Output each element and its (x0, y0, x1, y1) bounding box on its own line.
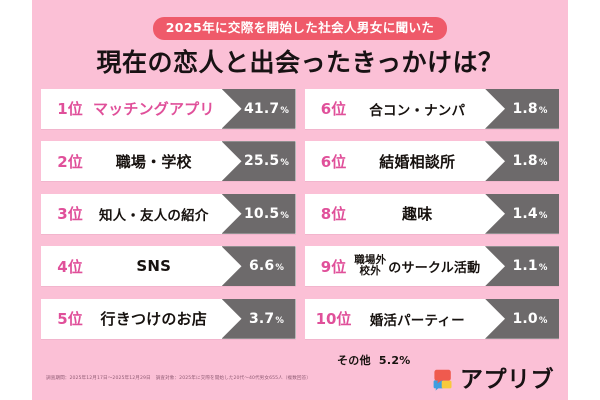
rank-label: 6位 (305, 141, 354, 181)
value-badge: 41.7% (222, 89, 296, 129)
value-number: 3.7 (249, 311, 274, 327)
value-badge: 6.6% (222, 246, 296, 286)
category-label: 合コン・ナンパ (354, 89, 486, 129)
value-number: 6.6 (249, 258, 274, 274)
percent-sign: % (539, 211, 548, 221)
ranking-row[interactable]: 2位 職場・学校 25.5% (41, 141, 296, 181)
category-label-stack-bottom: 校外 (354, 266, 386, 277)
category-label: 結婚相談所 (354, 141, 486, 181)
percent-sign: % (275, 263, 284, 273)
rank-label: 6位 (305, 89, 354, 129)
percent-sign: % (280, 211, 289, 221)
ranking-column-right: 6位 合コン・ナンパ 1.8% 6位 結婚相談所 1.8% 8位 趣味 (305, 89, 560, 339)
value-badge: 25.5% (222, 141, 296, 181)
survey-note: 調査期間：2025年12月17日〜2025年12月29日調査対象：2025年に交… (46, 375, 311, 381)
rank-label: 10位 (305, 299, 354, 339)
subtitle-badge: 2025年に交際を開始した社会人男女に聞いた (153, 17, 448, 40)
pink-panel: 2025年に交際を開始した社会人男女に聞いた 現在の恋人と出会ったきっかけは？ … (32, 0, 568, 400)
value-badge: 10.5% (222, 194, 296, 234)
percent-sign: % (280, 158, 289, 168)
category-label: 職場外 校外 のサークル活動 (354, 246, 486, 286)
percent-sign: % (280, 106, 289, 116)
value-number: 25.5 (244, 153, 279, 169)
value-number: 1.4 (512, 206, 537, 222)
percent-sign: % (275, 316, 284, 326)
value-number: 1.8 (512, 101, 537, 117)
rank-label: 1位 (41, 89, 90, 129)
brand-logo[interactable]: アプリブ (431, 368, 554, 392)
ranking-row[interactable]: 4位 SNS 6.6% (41, 246, 296, 286)
percent-sign: % (539, 106, 548, 116)
ranking-row[interactable]: 3位 知人・友人の紹介 10.5% (41, 194, 296, 234)
category-label: 婚活パーティー (354, 299, 486, 339)
percent-sign: % (539, 316, 548, 326)
rank-label: 3位 (41, 194, 90, 234)
survey-target: 調査対象：2025年に交際を開始した20代〜40代男女655人（複数回答） (156, 376, 311, 381)
header: 2025年に交際を開始した社会人男女に聞いた 現在の恋人と出会ったきっかけは？ (32, 0, 568, 77)
category-label-stack: 職場外 校外 (354, 255, 386, 277)
ranking-row[interactable]: 9位 職場外 校外 のサークル活動 1.1% (305, 246, 560, 286)
ranking-row[interactable]: 6位 合コン・ナンパ 1.8% (305, 89, 560, 129)
other-row: その他5.2% (337, 352, 411, 368)
ranking-row[interactable]: 5位 行きつけのお店 3.7% (41, 299, 296, 339)
ranking-columns: 1位 マッチングアプリ 41.7% 2位 職場・学校 25.5% 3位 知人・友… (32, 77, 568, 339)
other-label: その他 (337, 354, 371, 367)
value-badge: 1.8% (485, 141, 559, 181)
value-badge: 3.7% (222, 299, 296, 339)
ranking-row[interactable]: 8位 趣味 1.4% (305, 194, 560, 234)
brand-name: アプリブ (460, 369, 554, 392)
other-value: 5.2% (379, 354, 411, 367)
percent-sign: % (539, 263, 548, 273)
category-label: マッチングアプリ (90, 89, 222, 129)
category-label: SNS (90, 246, 222, 286)
rank-label: 4位 (41, 246, 90, 286)
infographic-root: 2025年に交際を開始した社会人男女に聞いた 現在の恋人と出会ったきっかけは？ … (0, 0, 600, 400)
value-badge: 1.0% (485, 299, 559, 339)
value-number: 10.5 (244, 206, 279, 222)
value-number: 41.7 (244, 101, 279, 117)
value-badge: 1.8% (485, 89, 559, 129)
rank-label: 8位 (305, 194, 354, 234)
ranking-row[interactable]: 1位 マッチングアプリ 41.7% (41, 89, 296, 129)
value-number: 1.8 (512, 153, 537, 169)
speech-bubbles-icon (431, 368, 455, 392)
category-label: 知人・友人の紹介 (90, 194, 222, 234)
percent-sign: % (539, 158, 548, 168)
category-label-rest: のサークル活動 (388, 257, 480, 276)
category-label: 行きつけのお店 (90, 299, 222, 339)
value-number: 1.1 (512, 258, 537, 274)
category-label: 職場・学校 (90, 141, 222, 181)
survey-period: 調査期間：2025年12月17日〜2025年12月29日 (46, 376, 151, 381)
value-badge: 1.4% (485, 194, 559, 234)
value-badge: 1.1% (485, 246, 559, 286)
rank-label: 5位 (41, 299, 90, 339)
ranking-column-left: 1位 マッチングアプリ 41.7% 2位 職場・学校 25.5% 3位 知人・友… (41, 89, 296, 339)
ranking-row[interactable]: 10位 婚活パーティー 1.0% (305, 299, 560, 339)
category-label: 趣味 (354, 194, 486, 234)
rank-label: 2位 (41, 141, 90, 181)
ranking-row[interactable]: 6位 結婚相談所 1.8% (305, 141, 560, 181)
value-number: 1.0 (512, 311, 537, 327)
page-title: 現在の恋人と出会ったきっかけは？ (32, 49, 568, 77)
rank-label: 9位 (305, 246, 354, 286)
